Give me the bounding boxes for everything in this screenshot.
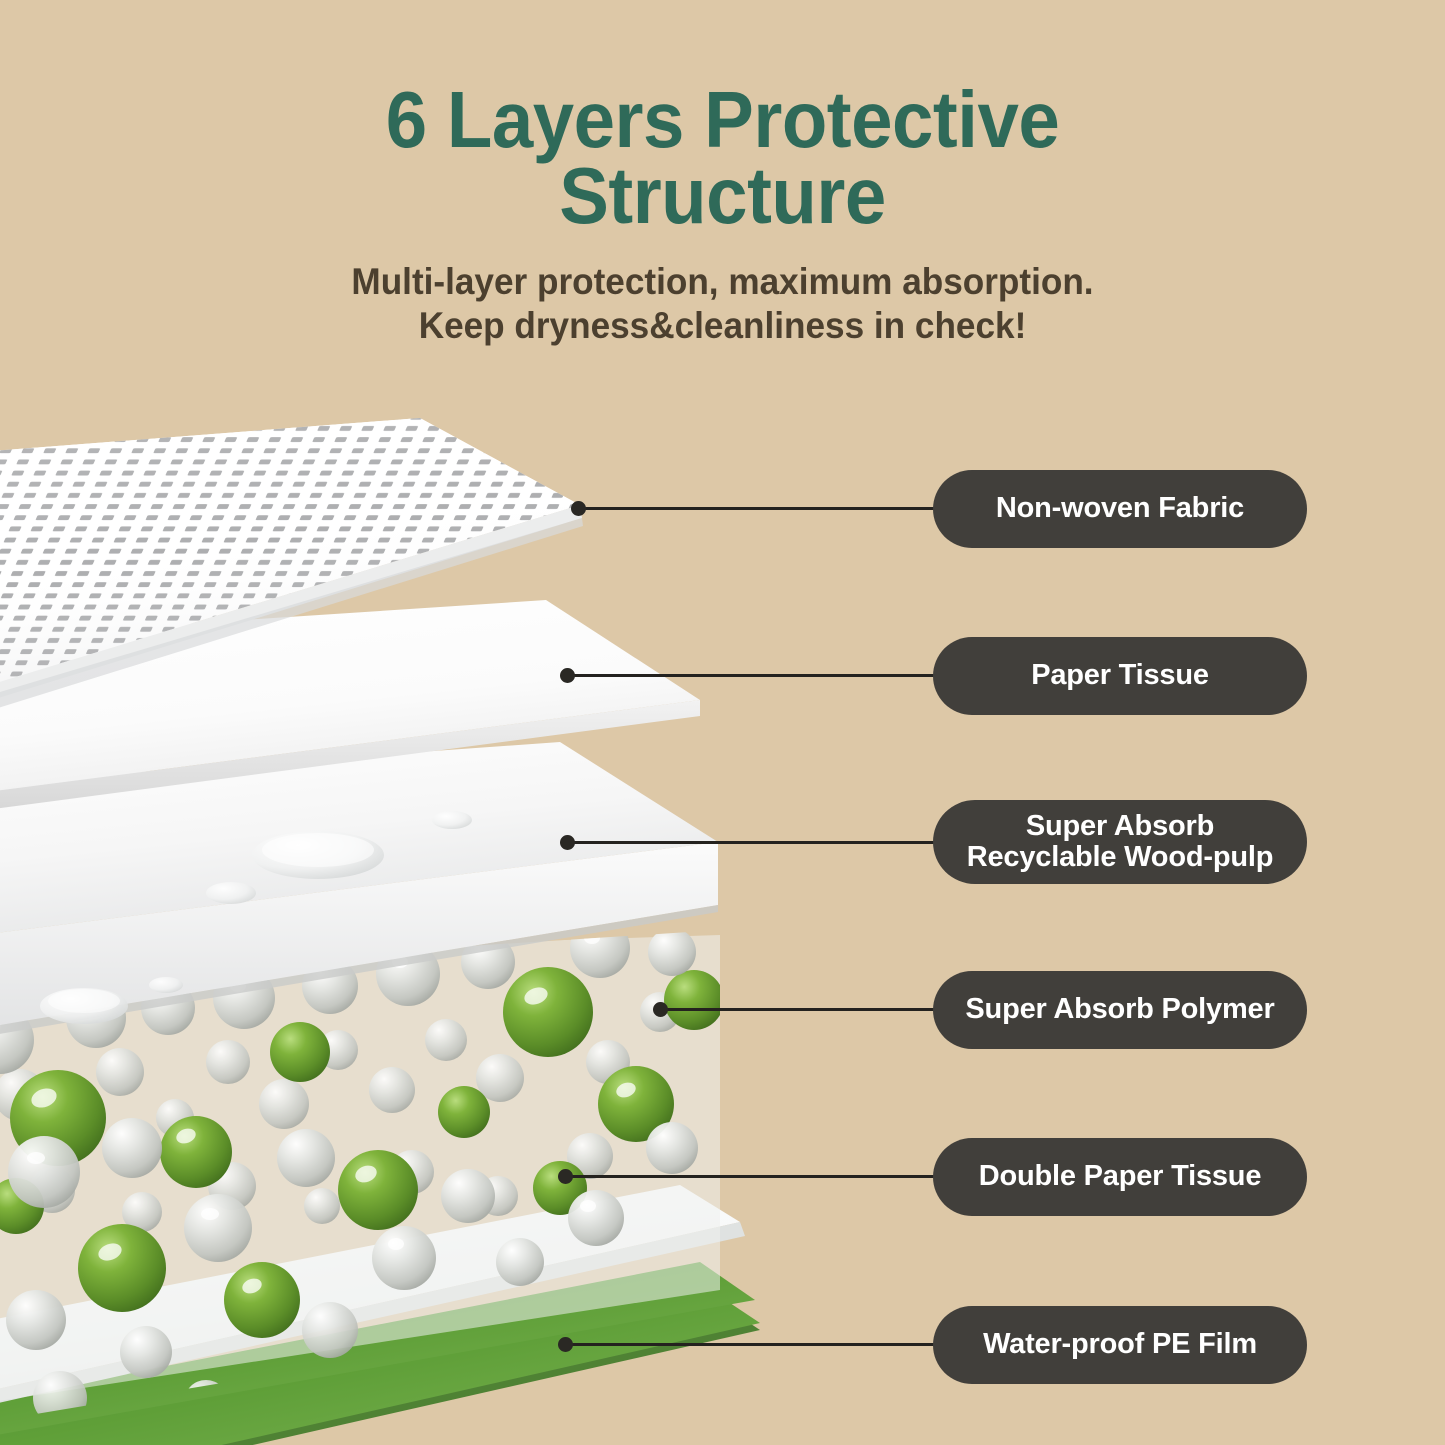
page-subtitle: Multi-layer protection, maximum absorpti… bbox=[36, 234, 1409, 349]
label-non-woven-fabric[interactable]: Non-woven Fabric bbox=[933, 470, 1307, 548]
leader-dot-1 bbox=[571, 501, 586, 516]
leader-dot-3 bbox=[560, 835, 575, 850]
label-paper-tissue[interactable]: Paper Tissue bbox=[933, 637, 1307, 715]
leader-dot-5 bbox=[558, 1169, 573, 1184]
leader-line-3 bbox=[567, 841, 935, 844]
leader-dot-6 bbox=[558, 1337, 573, 1352]
label-double-paper-tissue[interactable]: Double Paper Tissue bbox=[933, 1138, 1307, 1216]
leader-dot-2 bbox=[560, 668, 575, 683]
label-super-absorb-recyclable-wood-pulp[interactable]: Super Absorb Recyclable Wood-pulp bbox=[933, 800, 1307, 884]
label-water-proof-pe-film[interactable]: Water-proof PE Film bbox=[933, 1306, 1307, 1384]
leader-line-6 bbox=[565, 1343, 935, 1346]
page-title: 6 Layers Protective Structure bbox=[51, 0, 1395, 234]
leader-line-4 bbox=[660, 1008, 935, 1011]
infographic-root: 6 Layers Protective Structure Multi-laye… bbox=[0, 0, 1445, 1445]
label-super-absorb-polymer[interactable]: Super Absorb Polymer bbox=[933, 971, 1307, 1049]
leader-line-1 bbox=[578, 507, 935, 510]
leader-line-2 bbox=[567, 674, 935, 677]
leader-dot-4 bbox=[653, 1002, 668, 1017]
leader-line-5 bbox=[565, 1175, 935, 1178]
header-block: 6 Layers Protective Structure Multi-laye… bbox=[0, 0, 1445, 349]
